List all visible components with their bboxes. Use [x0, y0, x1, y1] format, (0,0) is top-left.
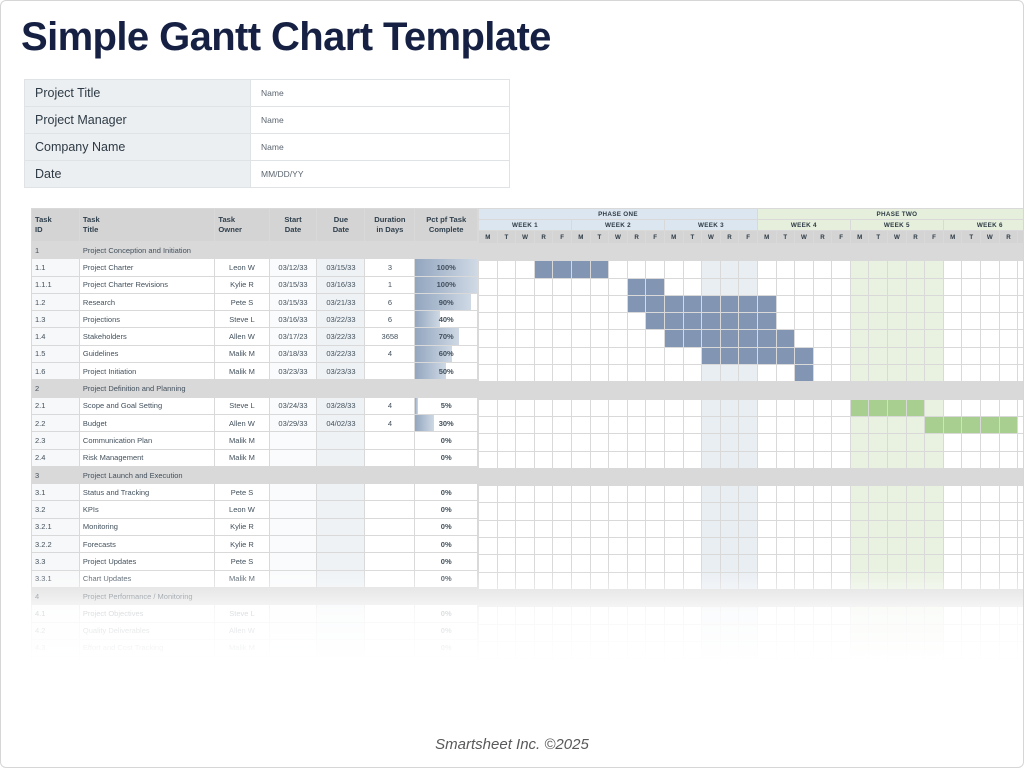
task-title-cell: Communication Plan	[79, 432, 214, 449]
table-row[interactable]: 2.2BudgetAllen W03/29/3304/02/33430%	[32, 414, 478, 431]
gantt-empty-cell	[999, 520, 1018, 537]
gantt-empty-cell	[1018, 278, 1024, 295]
gantt-empty-cell	[832, 641, 851, 658]
gantt-empty-cell	[646, 416, 665, 433]
gantt-bar-cell	[702, 313, 721, 330]
gantt-empty-cell	[757, 607, 776, 624]
task-title-cell: KPIs	[79, 501, 214, 518]
task-id-cell: 1.1	[32, 259, 80, 276]
gantt-empty-cell	[906, 261, 925, 278]
gantt-empty-cell	[571, 451, 590, 468]
info-value[interactable]: Name	[251, 134, 510, 161]
gantt-empty-cell	[720, 261, 739, 278]
task-group-row[interactable]: 2Project Definition and Planning	[32, 380, 478, 397]
gantt-empty-cell	[609, 538, 628, 555]
table-row[interactable]: 1.2ResearchPete S03/15/3303/21/33690%	[32, 293, 478, 310]
gantt-empty-cell	[664, 607, 683, 624]
task-id-cell: 1.3	[32, 311, 80, 328]
timeline-day-label: F	[1018, 231, 1024, 244]
gantt-empty-cell	[869, 538, 888, 555]
gantt-empty-cell	[590, 416, 609, 433]
timeline-phase-label: PHASE ONE	[479, 209, 758, 220]
gantt-empty-cell	[850, 486, 869, 503]
gantt-empty-cell	[813, 330, 832, 347]
pct-complete-value: 0%	[441, 661, 452, 663]
gantt-empty-cell	[925, 486, 944, 503]
gantt-empty-cell	[906, 244, 925, 261]
gantt-empty-cell	[702, 538, 721, 555]
table-row[interactable]: 3.2KPIsLeon W0%	[32, 501, 478, 518]
gantt-empty-cell	[646, 520, 665, 537]
gantt-empty-cell	[888, 520, 907, 537]
gantt-empty-cell	[739, 451, 758, 468]
task-pct-complete-cell	[415, 380, 478, 397]
gantt-empty-cell	[888, 244, 907, 261]
gantt-empty-cell	[553, 589, 572, 606]
gantt-empty-cell	[962, 607, 981, 624]
gantt-bar-cell	[739, 347, 758, 364]
gantt-empty-cell	[590, 520, 609, 537]
gantt-empty-cell	[981, 347, 1000, 364]
gantt-empty-cell	[888, 347, 907, 364]
gantt-empty-cell	[497, 555, 516, 572]
gantt-empty-cell	[739, 607, 758, 624]
gantt-empty-cell	[479, 416, 498, 433]
timeline-day-label: T	[869, 231, 888, 244]
gantt-empty-cell	[999, 399, 1018, 416]
gantt-empty-cell	[832, 572, 851, 589]
timeline-day-label: M	[571, 231, 590, 244]
gantt-empty-cell	[571, 589, 590, 606]
table-row[interactable]: 1.6Project InitiationMalik M03/23/3303/2…	[32, 363, 478, 380]
timeline-phase-row: PHASE ONEPHASE TWO	[479, 209, 1024, 220]
table-row[interactable]: 1.1Project CharterLeon W03/12/3303/15/33…	[32, 259, 478, 276]
gantt-empty-cell	[813, 434, 832, 451]
table-row[interactable]: 4.4Project PerformanceMalik M0%	[32, 657, 478, 663]
gantt-empty-cell	[609, 382, 628, 399]
gantt-empty-cell	[534, 589, 553, 606]
gantt-empty-cell	[813, 399, 832, 416]
gantt-empty-cell	[943, 486, 962, 503]
task-duration-cell	[365, 242, 415, 259]
gantt-empty-cell	[850, 365, 869, 382]
gantt-empty-cell	[571, 399, 590, 416]
pct-complete-value: 90%	[439, 298, 454, 307]
task-due-date-cell	[317, 518, 365, 535]
gantt-empty-cell	[609, 399, 628, 416]
table-row[interactable]: 2.3Communication PlanMalik M0%	[32, 432, 478, 449]
gantt-bar-cell	[720, 330, 739, 347]
gantt-empty-cell	[1018, 641, 1024, 658]
gantt-empty-cell	[1018, 365, 1024, 382]
task-table-header-row: Task ID Task Title Task Owner Start	[32, 209, 478, 242]
gantt-empty-cell	[590, 244, 609, 261]
gantt-empty-cell	[516, 468, 535, 485]
gantt-empty-cell	[720, 451, 739, 468]
gantt-empty-cell	[516, 572, 535, 589]
gantt-empty-cell	[776, 641, 795, 658]
gantt-empty-cell	[962, 399, 981, 416]
gantt-empty-cell	[627, 607, 646, 624]
footer-credit: Smartsheet Inc. ©2025	[1, 736, 1023, 753]
gantt-empty-cell	[534, 295, 553, 312]
gantt-empty-cell	[571, 313, 590, 330]
task-group-row[interactable]: 4Project Performance / Monitoring	[32, 587, 478, 604]
gantt-empty-cell	[962, 295, 981, 312]
gantt-empty-cell	[943, 365, 962, 382]
info-value[interactable]: Name	[251, 80, 510, 107]
gantt-empty-cell	[553, 486, 572, 503]
task-start-date-cell	[269, 587, 317, 604]
gantt-empty-cell	[981, 261, 1000, 278]
gantt-empty-cell	[516, 624, 535, 641]
gantt-empty-cell	[832, 313, 851, 330]
task-duration-cell	[365, 432, 415, 449]
gantt-empty-cell	[962, 382, 981, 399]
gantt-empty-cell	[795, 503, 814, 520]
task-id-cell: 3.2.2	[32, 536, 80, 553]
gantt-empty-cell	[664, 261, 683, 278]
gantt-empty-cell	[943, 624, 962, 641]
gantt-empty-cell	[646, 607, 665, 624]
gantt-empty-cell	[906, 486, 925, 503]
task-due-date-cell: 03/22/33	[317, 328, 365, 345]
gantt-empty-cell	[553, 503, 572, 520]
task-pct-complete-cell: 0%	[415, 432, 478, 449]
gantt-empty-cell	[832, 261, 851, 278]
gantt-empty-cell	[516, 451, 535, 468]
task-due-date-cell	[317, 536, 365, 553]
gantt-empty-cell	[943, 261, 962, 278]
task-pct-complete-cell: 70%	[415, 328, 478, 345]
task-start-date-cell: 03/15/33	[269, 293, 317, 310]
task-pct-complete-cell: 60%	[415, 345, 478, 362]
timeline-row	[479, 659, 1024, 663]
task-pct-complete-cell: 30%	[415, 414, 478, 431]
gantt-empty-cell	[943, 278, 962, 295]
task-start-date-cell	[269, 501, 317, 518]
gantt-empty-cell	[479, 468, 498, 485]
gantt-empty-cell	[739, 278, 758, 295]
gantt-empty-cell	[664, 347, 683, 364]
gantt-empty-cell	[999, 607, 1018, 624]
gantt-empty-cell	[1018, 261, 1024, 278]
task-group-row[interactable]: 1Project Conception and Initiation	[32, 242, 478, 259]
gantt-empty-cell	[664, 486, 683, 503]
gantt-empty-cell	[776, 538, 795, 555]
gantt-empty-cell	[1018, 624, 1024, 641]
task-title-cell: Scope and Goal Setting	[79, 397, 214, 414]
task-start-date-cell	[269, 380, 317, 397]
gantt-empty-cell	[757, 589, 776, 606]
task-owner-cell: Pete S	[215, 553, 269, 570]
gantt-empty-cell	[664, 278, 683, 295]
gantt-empty-cell	[534, 451, 553, 468]
task-due-date-cell	[317, 587, 365, 604]
table-row[interactable]: 4.1Project ObjectivesSteve L0%	[32, 605, 478, 622]
task-duration-cell	[365, 587, 415, 604]
task-pct-complete-cell: 100%	[415, 259, 478, 276]
gantt-empty-cell	[516, 607, 535, 624]
timeline-row	[479, 330, 1024, 347]
task-duration-cell	[365, 536, 415, 553]
gantt-empty-cell	[627, 416, 646, 433]
gantt-empty-cell	[906, 589, 925, 606]
gantt-empty-cell	[497, 434, 516, 451]
gantt-empty-cell	[534, 468, 553, 485]
gantt-empty-cell	[683, 572, 702, 589]
task-duration-cell: 6	[365, 311, 415, 328]
project-info-table: Project TitleNameProject ManagerNameComp…	[24, 79, 510, 188]
gantt-empty-cell	[664, 416, 683, 433]
timeline-day-label: M	[664, 231, 683, 244]
table-row[interactable]: 2.4Risk ManagementMalik M0%	[32, 449, 478, 466]
gantt-empty-cell	[627, 520, 646, 537]
gantt-empty-cell	[534, 347, 553, 364]
gantt-empty-cell	[795, 416, 814, 433]
gantt-bar-cell	[850, 399, 869, 416]
gantt-bar-cell	[683, 313, 702, 330]
table-row[interactable]: 4.2Quality DeliverablesAllen W0%	[32, 622, 478, 639]
task-start-date-cell	[269, 570, 317, 587]
gantt-empty-cell	[664, 382, 683, 399]
task-start-date-cell: 03/16/33	[269, 311, 317, 328]
task-group-row[interactable]: 3Project Launch and Execution	[32, 466, 478, 483]
task-owner-cell: Kylie R	[215, 518, 269, 535]
timeline-day-label: R	[720, 231, 739, 244]
gantt-empty-cell	[497, 295, 516, 312]
table-row[interactable]: 2.1Scope and Goal SettingSteve L03/24/33…	[32, 397, 478, 414]
task-id-cell: 2.4	[32, 449, 80, 466]
gantt-bar-cell	[627, 278, 646, 295]
task-start-date-cell: 03/12/33	[269, 259, 317, 276]
gantt-empty-cell	[534, 244, 553, 261]
task-pct-complete-cell: 0%	[415, 484, 478, 501]
gantt-empty-cell	[869, 365, 888, 382]
timeline-day-label: W	[609, 231, 628, 244]
task-due-date-cell: 04/02/33	[317, 414, 365, 431]
gantt-empty-cell	[739, 572, 758, 589]
gantt-empty-cell	[534, 382, 553, 399]
gantt-empty-cell	[739, 365, 758, 382]
gantt-empty-cell	[981, 313, 1000, 330]
timeline-week-label: WEEK 3	[664, 220, 757, 231]
gantt-empty-cell	[516, 261, 535, 278]
gantt-empty-cell	[795, 295, 814, 312]
gantt-empty-cell	[962, 347, 981, 364]
gantt-empty-cell	[590, 382, 609, 399]
gantt-empty-cell	[813, 295, 832, 312]
gantt-empty-cell	[497, 244, 516, 261]
gantt-empty-cell	[869, 451, 888, 468]
task-due-date-cell	[317, 570, 365, 587]
task-owner-cell: Steve L	[215, 397, 269, 414]
gantt-empty-cell	[999, 365, 1018, 382]
gantt-empty-cell	[850, 503, 869, 520]
info-value[interactable]: Name	[251, 107, 510, 134]
gantt-empty-cell	[571, 659, 590, 663]
table-row[interactable]: 1.3ProjectionsSteve L03/16/3303/22/33640…	[32, 311, 478, 328]
timeline-group-row	[479, 468, 1024, 485]
gantt-bar-cell	[646, 313, 665, 330]
task-pct-complete-cell: 0%	[415, 449, 478, 466]
table-row[interactable]: 1.4StakeholdersAllen W03/17/2303/22/3336…	[32, 328, 478, 345]
timeline-week-label: WEEK 4	[757, 220, 850, 231]
gantt-empty-cell	[757, 434, 776, 451]
task-id-cell: 3.2.1	[32, 518, 80, 535]
gantt-empty-cell	[683, 468, 702, 485]
table-row[interactable]: 3.2.2ForecastsKylie R0%	[32, 536, 478, 553]
gantt-empty-cell	[497, 503, 516, 520]
gantt-empty-cell	[479, 538, 498, 555]
task-start-date-cell	[269, 484, 317, 501]
gantt-empty-cell	[869, 503, 888, 520]
gantt-empty-cell	[553, 330, 572, 347]
gantt-empty-cell	[1018, 382, 1024, 399]
gantt-empty-cell	[757, 572, 776, 589]
header-task-title: Task Title	[79, 209, 214, 242]
task-duration-cell: 6	[365, 293, 415, 310]
gantt-empty-cell	[962, 261, 981, 278]
task-pct-complete-cell: 0%	[415, 622, 478, 639]
task-owner-cell	[215, 466, 269, 483]
gantt-empty-cell	[757, 244, 776, 261]
task-owner-cell: Kylie R	[215, 536, 269, 553]
gantt-empty-cell	[479, 624, 498, 641]
gantt-empty-cell	[999, 295, 1018, 312]
info-label: Project Title	[25, 80, 251, 107]
gantt-empty-cell	[516, 486, 535, 503]
gantt-empty-cell	[646, 641, 665, 658]
gantt-empty-cell	[739, 555, 758, 572]
timeline-day-label: W	[981, 231, 1000, 244]
gantt-empty-cell	[739, 503, 758, 520]
gantt-empty-cell	[702, 365, 721, 382]
gantt-empty-cell	[869, 434, 888, 451]
gantt-empty-cell	[479, 365, 498, 382]
info-value[interactable]: MM/DD/YY	[251, 161, 510, 188]
gantt-empty-cell	[664, 365, 683, 382]
gantt-empty-cell	[534, 659, 553, 663]
gantt-empty-cell	[479, 659, 498, 663]
gantt-empty-cell	[832, 520, 851, 537]
gantt-empty-cell	[553, 382, 572, 399]
gantt-empty-cell	[479, 313, 498, 330]
gantt-empty-cell	[832, 434, 851, 451]
gantt-empty-cell	[943, 572, 962, 589]
task-pct-complete-cell: 5%	[415, 397, 478, 414]
gantt-bar-cell	[702, 330, 721, 347]
gantt-empty-cell	[925, 520, 944, 537]
gantt-empty-cell	[999, 624, 1018, 641]
task-id-cell: 2.3	[32, 432, 80, 449]
header-duration-line1: Duration	[368, 215, 411, 225]
task-title-cell: Stakeholders	[79, 328, 214, 345]
gantt-empty-cell	[925, 624, 944, 641]
gantt-empty-cell	[553, 434, 572, 451]
gantt-empty-cell	[757, 399, 776, 416]
table-row[interactable]: 3.3Project UpdatesPete S0%	[32, 553, 478, 570]
gantt-empty-cell	[479, 451, 498, 468]
task-start-date-cell	[269, 639, 317, 656]
gantt-empty-cell	[609, 330, 628, 347]
gantt-empty-cell	[981, 382, 1000, 399]
timeline-row	[479, 261, 1024, 278]
gantt-empty-cell	[757, 520, 776, 537]
gantt-empty-cell	[702, 572, 721, 589]
gantt-empty-cell	[813, 416, 832, 433]
gantt-empty-cell	[850, 589, 869, 606]
task-title-cell: Risk Management	[79, 449, 214, 466]
task-id-cell: 1.4	[32, 328, 80, 345]
gantt-bar-cell	[757, 313, 776, 330]
task-owner-cell: Leon W	[215, 259, 269, 276]
gantt-empty-cell	[869, 382, 888, 399]
gantt-empty-cell	[1018, 468, 1024, 485]
gantt-empty-cell	[776, 555, 795, 572]
gantt-empty-cell	[757, 641, 776, 658]
gantt-empty-cell	[553, 399, 572, 416]
gantt-empty-cell	[869, 572, 888, 589]
gantt-empty-cell	[516, 589, 535, 606]
gantt-empty-cell	[702, 503, 721, 520]
pct-complete-value: 0%	[441, 522, 452, 531]
gantt-empty-cell	[646, 486, 665, 503]
gantt-empty-cell	[1018, 416, 1024, 433]
task-start-date-cell	[269, 432, 317, 449]
table-row[interactable]: 1.1.1Project Charter RevisionsKylie R03/…	[32, 276, 478, 293]
gantt-empty-cell	[850, 347, 869, 364]
gantt-empty-cell	[850, 434, 869, 451]
table-row[interactable]: 3.3.1Chart UpdatesMalik M0%	[32, 570, 478, 587]
gantt-empty-cell	[497, 313, 516, 330]
gantt-empty-cell	[702, 382, 721, 399]
gantt-empty-cell	[795, 468, 814, 485]
gantt-empty-cell	[1018, 555, 1024, 572]
task-duration-cell: 1	[365, 276, 415, 293]
gantt-empty-cell	[981, 503, 1000, 520]
gantt-empty-cell	[962, 244, 981, 261]
timeline-week-label: WEEK 6	[943, 220, 1024, 231]
task-title-cell: Project Conception and Initiation	[79, 242, 214, 259]
gantt-empty-cell	[553, 347, 572, 364]
gantt-empty-cell	[850, 555, 869, 572]
gantt-empty-cell	[888, 330, 907, 347]
gantt-empty-cell	[571, 468, 590, 485]
gantt-empty-cell	[497, 589, 516, 606]
task-title-cell: Project Charter Revisions	[79, 276, 214, 293]
gantt-empty-cell	[497, 278, 516, 295]
table-row[interactable]: 4.3Effort and Cost TrackingMalik M0%	[32, 639, 478, 656]
table-row[interactable]: 1.5GuidelinesMalik M03/18/3303/22/33460%	[32, 345, 478, 362]
gantt-empty-cell	[664, 468, 683, 485]
gantt-empty-cell	[850, 382, 869, 399]
gantt-empty-cell	[832, 416, 851, 433]
task-owner-cell: Malik M	[215, 570, 269, 587]
gantt-empty-cell	[757, 486, 776, 503]
task-pct-complete-cell: 0%	[415, 657, 478, 663]
gantt-empty-cell	[776, 503, 795, 520]
timeline-row	[479, 520, 1024, 537]
table-row[interactable]: 3.1Status and TrackingPete S0%	[32, 484, 478, 501]
task-start-date-cell	[269, 242, 317, 259]
gantt-empty-cell	[609, 416, 628, 433]
header-task-id-line2: ID	[35, 225, 76, 235]
gantt-empty-cell	[832, 624, 851, 641]
gantt-empty-cell	[962, 365, 981, 382]
table-row[interactable]: 3.2.1MonitoringKylie R0%	[32, 518, 478, 535]
gantt-empty-cell	[516, 399, 535, 416]
